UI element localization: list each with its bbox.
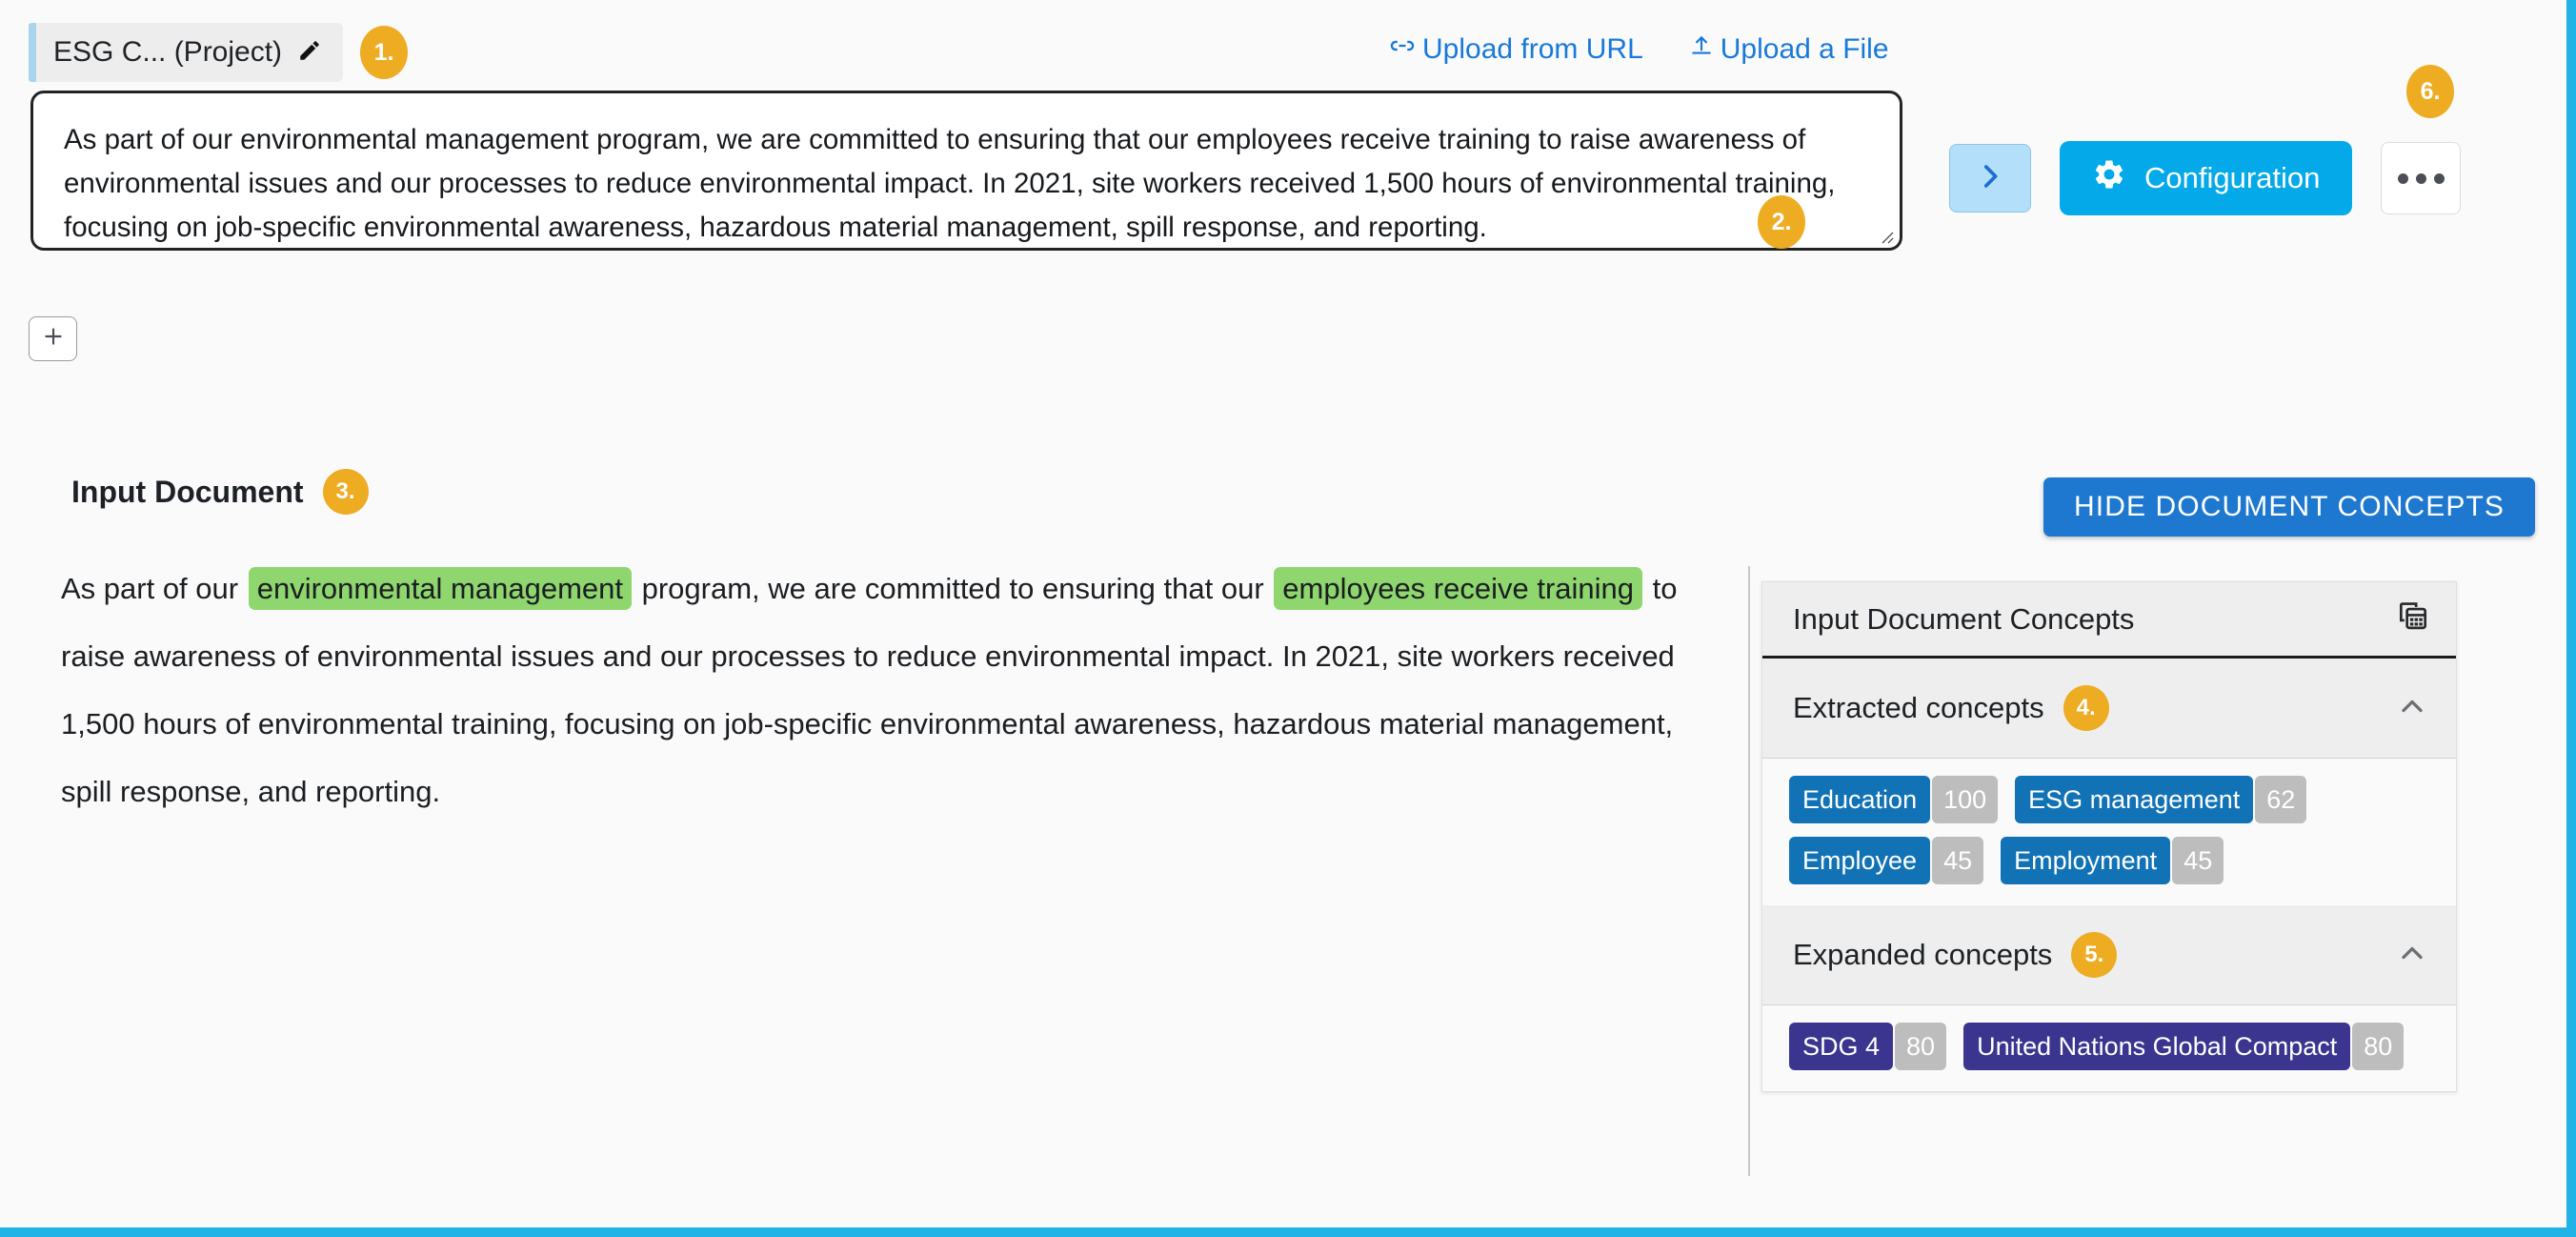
marker-badge-1: 1.: [360, 26, 408, 79]
add-document-button[interactable]: [29, 316, 77, 361]
concept-chip-label: Employment: [2001, 837, 2170, 884]
page-title: Input Document: [71, 475, 304, 510]
highlighted-concept-1: environmental management: [249, 567, 632, 610]
more-options-button[interactable]: [2381, 142, 2461, 214]
marker-badge-3: 3.: [323, 469, 369, 515]
concepts-panel-header: Input Document Concepts: [1762, 582, 2456, 659]
upload-icon: [1689, 32, 1714, 67]
upload-from-url-link[interactable]: Upload from URL: [1389, 32, 1643, 67]
marker-badge-6: 6.: [2406, 65, 2454, 118]
concept-chip[interactable]: Education100: [1789, 776, 1998, 823]
concept-chip[interactable]: ESG management62: [2015, 776, 2306, 823]
concept-chip[interactable]: Employee45: [1789, 837, 1983, 884]
concepts-panel-title: Input Document Concepts: [1793, 602, 2134, 637]
concept-chip-score: 62: [2255, 776, 2306, 823]
application-root: ESG C... (Project) 1. Upload from URL: [0, 0, 2576, 1237]
concept-chip-label: ESG management: [2015, 776, 2253, 823]
plus-icon: [41, 324, 66, 354]
concept-chip-label: Employee: [1789, 837, 1930, 884]
configuration-button[interactable]: Configuration: [2060, 141, 2352, 215]
concepts-section-header-expanded[interactable]: Expanded concepts5.: [1762, 905, 2456, 1005]
concepts-panel: Input Document Concepts Extracted concep…: [1761, 581, 2457, 1092]
concept-chip-label: Education: [1789, 776, 1930, 823]
concept-chip[interactable]: SDG 480: [1789, 1023, 1946, 1070]
document-input-wrapper: As part of our environmental management …: [30, 91, 1902, 251]
concept-chip-label: SDG 4: [1789, 1023, 1893, 1070]
marker-badge-2: 2.: [1758, 195, 1805, 249]
document-text-input[interactable]: As part of our environmental management …: [30, 91, 1902, 251]
chevron-up-icon[interactable]: [2395, 936, 2429, 975]
concept-chip[interactable]: United Nations Global Compact80: [1963, 1023, 2404, 1070]
concepts-section-title: Expanded concepts: [1793, 938, 2052, 972]
concepts-section-header-extracted[interactable]: Extracted concepts4.: [1762, 659, 2456, 759]
ellipsis-icon: [2398, 173, 2445, 184]
marker-badge-5: 5.: [2071, 932, 2117, 978]
concepts-section-title: Extracted concepts: [1793, 691, 2044, 725]
pencil-icon[interactable]: [297, 38, 322, 68]
grid-table-icon[interactable]: [2395, 598, 2431, 639]
upload-from-url-label: Upload from URL: [1422, 33, 1643, 66]
upload-a-file-label: Upload a File: [1721, 33, 1889, 66]
document-body-text: As part of our environmental management …: [61, 555, 1709, 825]
hide-document-concepts-button[interactable]: HIDE DOCUMENT CONCEPTS: [2043, 477, 2535, 537]
concepts-section-body-expanded: SDG 480United Nations Global Compact80: [1762, 1005, 2456, 1091]
upload-a-file-link[interactable]: Upload a File: [1689, 32, 1889, 67]
configuration-label: Configuration: [2144, 161, 2320, 195]
concept-chip-score: 80: [1895, 1023, 1946, 1070]
chevron-up-icon[interactable]: [2395, 689, 2429, 728]
concept-chip-label: United Nations Global Compact: [1963, 1023, 2350, 1070]
concept-chip[interactable]: Employment45: [2001, 837, 2224, 884]
editor-actions: Configuration: [1949, 141, 2461, 215]
concept-chip-score: 100: [1932, 776, 1998, 823]
concept-chip-score: 45: [1932, 837, 1983, 884]
concept-chip-score: 45: [2172, 837, 2224, 884]
project-tab-label: ESG C... (Project): [53, 36, 282, 69]
marker-badge-4: 4.: [2063, 685, 2109, 731]
link-icon: [1389, 32, 1416, 67]
concepts-section-body-extracted: Education100ESG management62Employee45Em…: [1762, 759, 2456, 905]
chevron-right-icon: [1974, 157, 2006, 200]
concepts-panel-divider: [1748, 566, 1750, 1176]
highlighted-concept-3: employees receive training: [1274, 567, 1642, 610]
concepts-sections-container: Extracted concepts4.Education100ESG mana…: [1762, 659, 2456, 1091]
project-tabbar: ESG C... (Project) 1.: [29, 23, 408, 82]
concept-chip-score: 80: [2352, 1023, 2404, 1070]
submit-chevron-button[interactable]: [1949, 144, 2031, 213]
input-document-heading-group: Input Document 3.: [71, 469, 369, 515]
document-text-segment-2: program, we are committed to ensuring th…: [634, 572, 1272, 605]
project-tab[interactable]: ESG C... (Project): [29, 23, 343, 82]
gear-icon: [2092, 157, 2126, 199]
upload-links-group: Upload from URL Upload a File: [1389, 32, 1889, 67]
document-text-segment-0: As part of our: [61, 572, 247, 605]
